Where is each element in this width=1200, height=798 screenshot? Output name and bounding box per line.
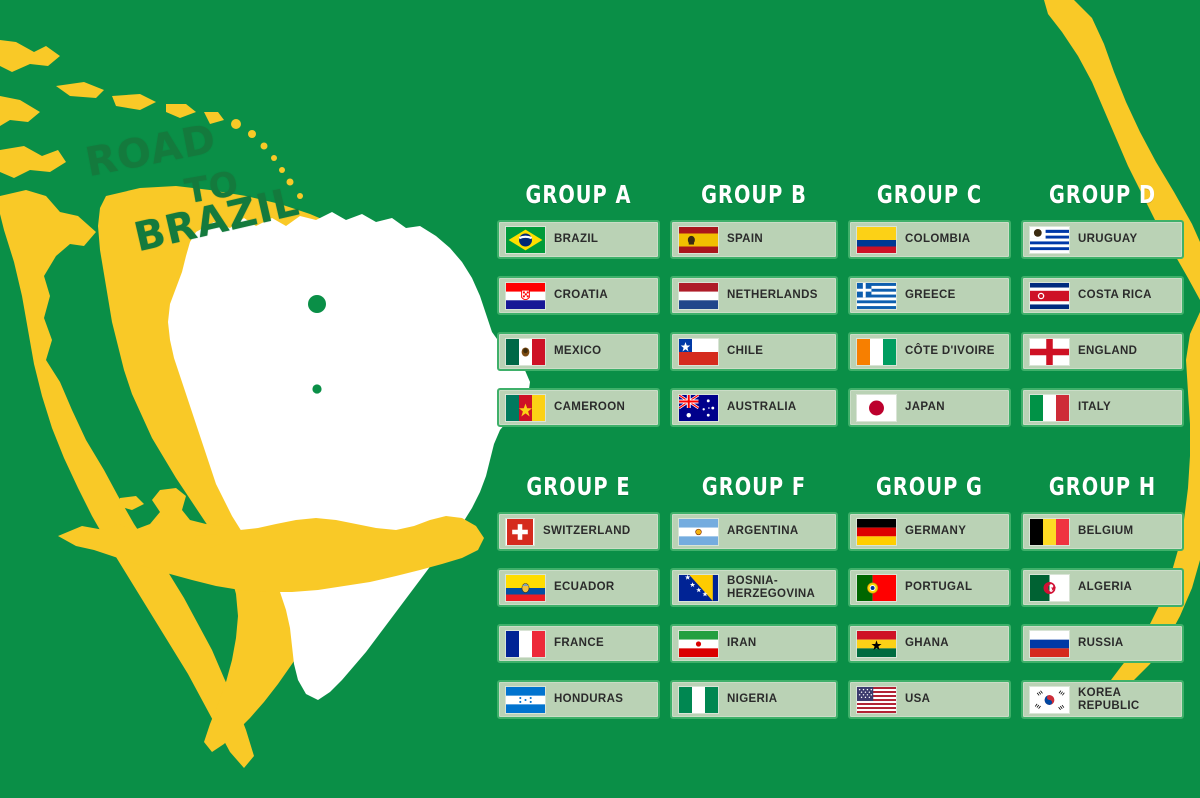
group-title-f: GROUP F (682, 472, 826, 501)
year-dot-left (288, 403, 292, 407)
group-column-c: GROUP C COLOMBIA GREECE CÔTE D'IVOIRE (848, 180, 1011, 427)
team-name: ECUADOR (554, 581, 615, 594)
team-name: MEXICO (554, 345, 601, 358)
italy-flag (1029, 394, 1070, 422)
group-title-h: GROUP H (1032, 472, 1172, 501)
team-name: SPAIN (727, 233, 763, 246)
portugal-flag (856, 574, 897, 602)
group-title-d: GROUP D (1032, 180, 1172, 209)
chile-flag (678, 338, 719, 366)
team-row[interactable]: IRAN (670, 624, 838, 663)
infographic-canvas: ROAD TO BRAZIL at MLS CUP 2013 (0, 0, 1200, 798)
team-name: CROATIA (554, 289, 608, 302)
ecuador-flag (505, 574, 546, 602)
team-name: BELGIUM (1078, 525, 1133, 538)
team-name: BOSNIA- HERZEGOVINA (727, 575, 815, 601)
group-g-teams: GERMANY PORTUGAL GHANA USA (848, 512, 1011, 719)
team-row[interactable]: AUSTRALIA (670, 388, 838, 427)
team-row[interactable]: GREECE (848, 276, 1011, 315)
team-row[interactable]: BOSNIA- HERZEGOVINA (670, 568, 838, 607)
trophy-stem-icon (312, 346, 322, 362)
group-c-teams: COLOMBIA GREECE CÔTE D'IVOIRE JAPAN (848, 220, 1011, 427)
group-b-teams: SPAIN NETHERLANDS CHILE AUSTRALIA (670, 220, 838, 427)
group-title-g: GROUP G (859, 472, 999, 501)
england-flag (1029, 338, 1070, 366)
cote-divoire-flag (856, 338, 897, 366)
team-row[interactable]: URUGUAY (1021, 220, 1184, 259)
spain-flag (678, 226, 719, 254)
group-column-a: GROUP A BRAZIL CROATIA MEXICO (497, 180, 660, 427)
team-name: CÔTE D'IVOIRE (905, 345, 995, 358)
team-row[interactable]: COSTA RICA (1021, 276, 1184, 315)
road-to-brazil-logo: ROAD TO BRAZIL at MLS CUP 2013 (0, 0, 480, 440)
team-row[interactable]: RUSSIA (1021, 624, 1184, 663)
france-flag (505, 630, 546, 658)
iran-flag (678, 630, 719, 658)
group-column-b: GROUP B SPAIN NETHERLANDS CHILE (670, 180, 838, 427)
team-name: ENGLAND (1078, 345, 1137, 358)
group-column-h: GROUP H BELGIUM ALGERIA RUSSIA (1021, 472, 1184, 719)
trophy-base-icon (296, 362, 338, 374)
greece-flag (856, 282, 897, 310)
team-row[interactable]: NETHERLANDS (670, 276, 838, 315)
belgium-flag (1029, 518, 1070, 546)
team-name: AUSTRALIA (727, 401, 797, 414)
group-column-g: GROUP G GERMANY PORTUGAL GHANA (848, 472, 1011, 719)
team-row[interactable]: KOREA REPUBLIC (1021, 680, 1184, 719)
trophy-ball-cutout (308, 295, 326, 313)
group-a-teams: BRAZIL CROATIA MEXICO CAMEROON (497, 220, 660, 427)
team-name: ITALY (1078, 401, 1111, 414)
team-name: KOREA REPUBLIC (1078, 687, 1140, 713)
group-draw-grid: GROUP A BRAZIL CROATIA MEXICO (497, 180, 1197, 719)
group-e-teams: SWITZERLAND ECUADOR FRANCE HONDURAS (497, 512, 660, 719)
team-name: BRAZIL (554, 233, 598, 246)
team-name: NETHERLANDS (727, 289, 818, 302)
team-row[interactable]: COLOMBIA (848, 220, 1011, 259)
team-row[interactable]: BRAZIL (497, 220, 660, 259)
group-title-e: GROUP E (508, 472, 648, 501)
team-name: COLOMBIA (905, 233, 970, 246)
team-name: ALGERIA (1078, 581, 1132, 594)
group-column-e: GROUP E SWITZERLAND ECUADOR FRANCE (497, 472, 660, 719)
group-title-a: GROUP A (508, 180, 648, 209)
group-band-bottom: GROUP E SWITZERLAND ECUADOR FRANCE (497, 472, 1197, 719)
team-row[interactable]: SPAIN (670, 220, 838, 259)
usa-flag (856, 686, 897, 714)
team-row[interactable]: USA (848, 680, 1011, 719)
nigeria-flag (678, 686, 719, 714)
group-f-teams: ARGENTINA BOSNIA- HERZEGOVINA IRAN NIGER… (670, 512, 838, 719)
cameroon-flag (505, 394, 546, 422)
team-name: URUGUAY (1078, 233, 1138, 246)
team-name: HONDURAS (554, 693, 623, 706)
team-row[interactable]: PORTUGAL (848, 568, 1011, 607)
argentina-flag (678, 518, 719, 546)
team-row[interactable]: BELGIUM (1021, 512, 1184, 551)
uruguay-flag (1029, 226, 1070, 254)
netherlands-flag (678, 282, 719, 310)
team-row[interactable]: ALGERIA (1021, 568, 1184, 607)
mls-ball-center (312, 384, 321, 393)
team-row[interactable]: CHILE (670, 332, 838, 371)
team-row[interactable]: SWITZERLAND (497, 512, 660, 551)
team-row[interactable]: MEXICO (497, 332, 660, 371)
group-column-f: GROUP F ARGENTINA BOSNIA- HERZEGOVINA IR… (670, 472, 838, 719)
team-name: IRAN (727, 637, 757, 650)
team-name: GERMANY (905, 525, 966, 538)
russia-flag (1029, 630, 1070, 658)
at-label: at (228, 286, 252, 310)
group-d-teams: URUGUAY COSTA RICA ENGLAND ITALY (1021, 220, 1184, 427)
team-row[interactable]: GERMANY (848, 512, 1011, 551)
team-row[interactable]: ECUADOR (497, 568, 660, 607)
germany-flag (856, 518, 897, 546)
team-row[interactable]: CAMEROON (497, 388, 660, 427)
group-title-b: GROUP B (682, 180, 826, 209)
brazil-flag (505, 226, 546, 254)
switzerland-flag (505, 518, 535, 546)
team-row[interactable]: CÔTE D'IVOIRE (848, 332, 1011, 371)
team-name: ARGENTINA (727, 525, 799, 538)
japan-flag (856, 394, 897, 422)
team-row[interactable]: NIGERIA (670, 680, 838, 719)
group-title-c: GROUP C (859, 180, 999, 209)
team-row[interactable]: ITALY (1021, 388, 1184, 427)
croatia-flag (505, 282, 546, 310)
team-name: PORTUGAL (905, 581, 972, 594)
team-name: RUSSIA (1078, 637, 1124, 650)
mls-cup-year-row: 2013 (258, 396, 376, 414)
team-row[interactable]: FRANCE (497, 624, 660, 663)
team-name: NIGERIA (727, 693, 777, 706)
year-dot-right (344, 403, 348, 407)
team-name: USA (905, 693, 930, 706)
team-row[interactable]: ARGENTINA (670, 512, 838, 551)
team-row[interactable]: HONDURAS (497, 680, 660, 719)
mexico-flag (505, 338, 546, 366)
mls-cup-trophy-logo: MLS CUP (258, 274, 376, 400)
team-row[interactable]: GHANA (848, 624, 1011, 663)
australia-flag (678, 394, 719, 422)
ghana-flag (856, 630, 897, 658)
team-name: GREECE (905, 289, 956, 302)
team-name: FRANCE (554, 637, 604, 650)
team-name: JAPAN (905, 401, 945, 414)
team-row[interactable]: CROATIA (497, 276, 660, 315)
honduras-flag (505, 686, 546, 714)
bosnia-herzegovina-flag (678, 574, 719, 602)
algeria-flag (1029, 574, 1070, 602)
team-name: GHANA (905, 637, 949, 650)
korea-republic-flag (1029, 686, 1070, 714)
team-name: CHILE (727, 345, 763, 358)
team-row[interactable]: JAPAN (848, 388, 1011, 427)
team-name: CAMEROON (554, 401, 625, 414)
colombia-flag (856, 226, 897, 254)
costa-rica-flag (1029, 282, 1070, 310)
group-band-top: GROUP A BRAZIL CROATIA MEXICO (497, 180, 1197, 427)
mls-cup-year: 2013 (300, 399, 336, 412)
group-h-teams: BELGIUM ALGERIA RUSSIA KOREA REPUBLIC (1021, 512, 1184, 719)
team-name: SWITZERLAND (543, 525, 631, 538)
team-row[interactable]: ENGLAND (1021, 332, 1184, 371)
team-name: COSTA RICA (1078, 289, 1152, 302)
group-column-d: GROUP D URUGUAY COSTA RICA ENGLAND (1021, 180, 1184, 427)
